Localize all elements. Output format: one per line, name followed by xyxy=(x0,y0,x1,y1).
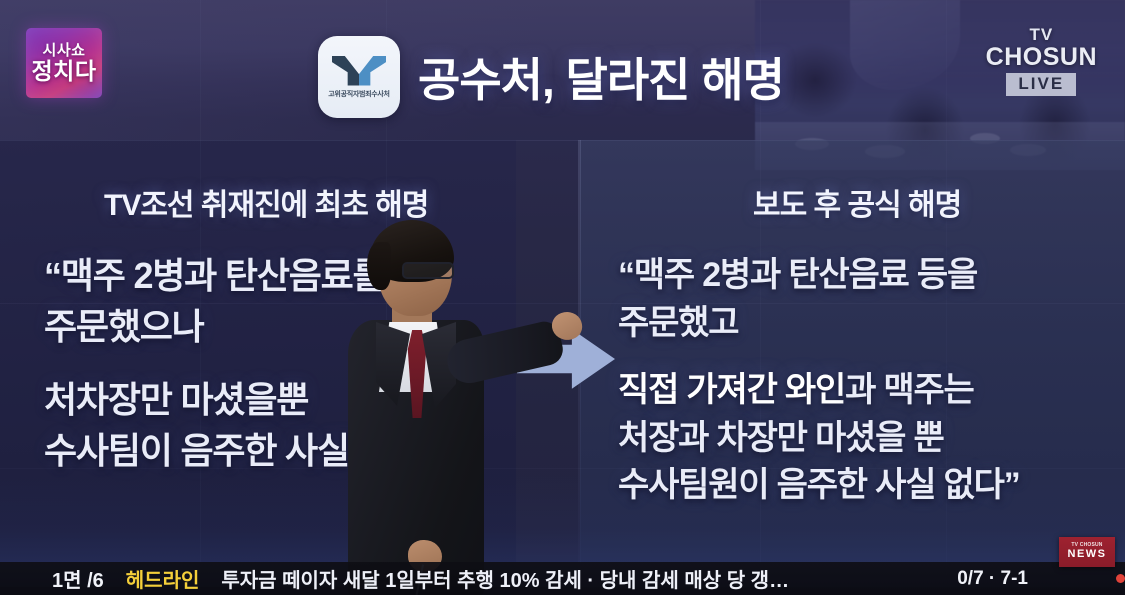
cio-mark-left-wing xyxy=(332,56,359,86)
column-heading-right: 보도 후 공식 해명 xyxy=(753,180,961,224)
cio-mark-right-wing xyxy=(359,56,386,86)
quote-line: “맥주 2병과 탄산음료 등을 xyxy=(618,252,1020,300)
column-heading-left: TV조선 취재진에 최초 해명 xyxy=(104,180,428,224)
quote-right-paragraph-1: “맥주 2병과 탄산음료 등을 주문했고 xyxy=(618,252,1020,347)
quote-line: 처장과 차장만 마셨을 뿐 xyxy=(618,415,1020,463)
ticker-tag: 헤드라인 xyxy=(126,564,200,593)
show-logo-line2: 정치다 xyxy=(32,60,97,83)
quote-right-paragraph-2: 직접 가져간 와인과 맥주는 처장과 차장만 마셨을 뿐 수사팀원이 음주한 사… xyxy=(618,367,1020,510)
ticker-time: 1면 /6 xyxy=(52,564,104,593)
ticker-status-dot xyxy=(1116,574,1125,583)
news-ticker: 1면 /6 헤드라인 투자금 떼이자 새달 1일부터 추행 10% 감세 · 당… xyxy=(0,562,1125,595)
quote-right: “맥주 2병과 탄산음료 등을 주문했고 직접 가져간 와인과 맥주는 처장과 … xyxy=(618,252,1020,510)
presenter-figure xyxy=(330,222,520,595)
ticker-index: 0/7 · 7-1 xyxy=(957,568,1028,590)
cio-agency-logo-icon: 고위공직자범죄수사처 xyxy=(318,36,400,118)
live-badge: LIVE xyxy=(1006,73,1076,96)
presenter-glasses-icon xyxy=(402,262,454,279)
show-logo-line1: 시사쇼 xyxy=(43,43,86,58)
ticker-text: 투자금 떼이자 새달 1일부터 추행 10% 감세 · 당내 감세 매상 당 갱… xyxy=(221,564,789,593)
quote-emphasis-line: 직접 가져간 와인과 맥주는 xyxy=(618,367,1020,415)
cio-mark-icon xyxy=(332,56,386,86)
photo-curtain xyxy=(850,0,960,90)
network-name-line2: CHOSUN xyxy=(986,44,1097,70)
network-name-line1: TV xyxy=(986,26,1097,44)
headline-block: 고위공직자범죄수사처 공수처, 달라진 해명 xyxy=(318,36,784,118)
broadcast-screen: 시사쇼 정치다 고위공직자범죄수사처 공수처, 달라진 해명 TV CHOSUN… xyxy=(0,0,1125,595)
news-badge-main: NEWS xyxy=(1068,548,1107,561)
quote-line: 주문했고 xyxy=(618,300,1020,348)
wall-seam-horizontal xyxy=(0,140,1125,141)
quote-emphasis-rest: 과 맥주는 xyxy=(845,371,974,409)
cio-logo-caption: 고위공직자범죄수사처 xyxy=(328,89,389,99)
network-watermark: TV CHOSUN LIVE xyxy=(986,26,1097,96)
news-watermark-badge: TV CHOSUN NEWS xyxy=(1059,537,1115,567)
quote-emphasis-bold: 직접 가져간 와인 xyxy=(618,371,845,409)
page-title: 공수처, 달라진 해명 xyxy=(418,44,784,110)
quote-line: 수사팀원이 음주한 사실 없다” xyxy=(618,462,1020,510)
show-logo: 시사쇼 정치다 xyxy=(26,28,102,98)
